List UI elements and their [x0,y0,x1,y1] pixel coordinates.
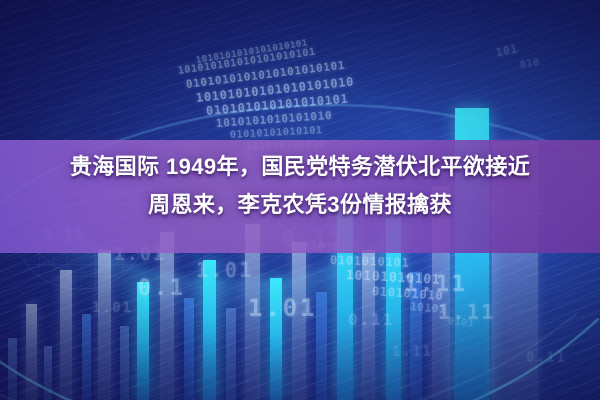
banner-image: 1010101010101010101101010101010101010101… [0,0,600,400]
headline-line-2: 周恩来，李克农凭3份情报擒获 [0,186,600,224]
headline-line-1: 贵海国际 1949年，国民党特务潜伏北平欲接近 [0,148,600,186]
headline-text: 贵海国际 1949年，国民党特务潜伏北平欲接近 周恩来，李克农凭3份情报擒获 [0,148,600,224]
